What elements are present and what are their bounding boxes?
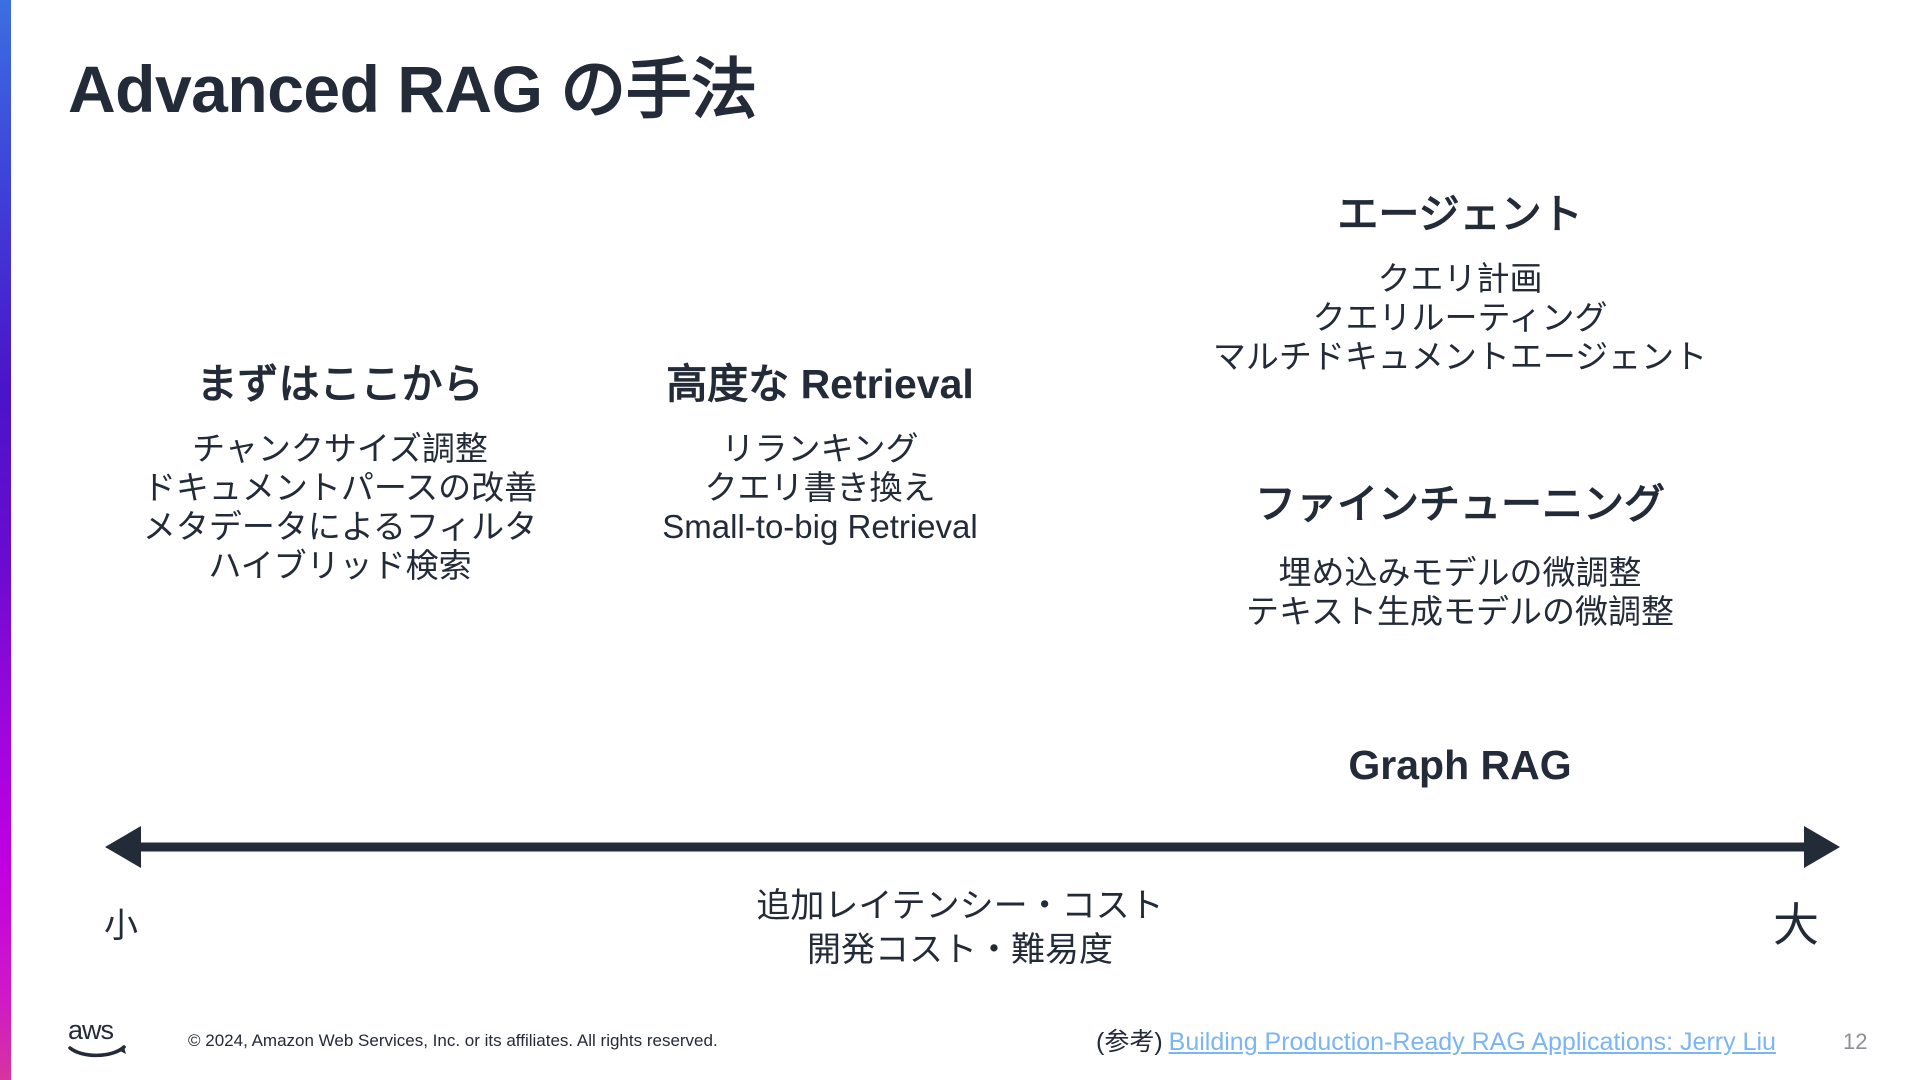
- list-item: 埋め込みモデルの微調整: [1100, 554, 1820, 593]
- aws-logo: aws: [68, 1016, 132, 1060]
- page-number: 12: [1843, 1029, 1867, 1055]
- group-retrieval-items: リランキング クエリ書き換え Small-to-big Retrieval: [520, 430, 1120, 547]
- slide: Advanced RAG の手法 まずはここから チャンクサイズ調整 ドキュメン…: [0, 0, 1920, 1080]
- group-finetune: ファインチューニング 埋め込みモデルの微調整 テキスト生成モデルの微調整: [1100, 480, 1820, 632]
- axis-label-max: 大: [1773, 889, 1819, 955]
- group-agent: エージェント クエリ計画 クエリルーティング マルチドキュメントエージェント: [1100, 190, 1820, 377]
- source-prefix: (参考): [1096, 1028, 1163, 1056]
- list-item: Small-to-big Retrieval: [520, 508, 1120, 547]
- source-note: (参考)Building Production-Ready RAG Applic…: [1096, 1022, 1776, 1058]
- axis-caption-line-2: 開発コスト・難易度: [560, 929, 1360, 973]
- complexity-axis: [105, 818, 1840, 876]
- list-item: クエリ書き換え: [520, 469, 1120, 508]
- group-finetune-heading: ファインチューニング: [1100, 480, 1820, 528]
- list-item: クエリ計画: [1100, 260, 1820, 299]
- copyright-text: © 2024, Amazon Web Services, Inc. or its…: [188, 1031, 718, 1051]
- group-agent-heading: エージェント: [1100, 190, 1820, 238]
- axis-label-min: 小: [104, 898, 138, 947]
- group-retrieval: 高度な Retrieval リランキング クエリ書き換え Small-to-bi…: [520, 360, 1120, 547]
- left-gradient-accent-bar: [0, 0, 11, 1080]
- double-arrow-icon: [105, 818, 1840, 876]
- list-item: ハイブリッド検索: [40, 547, 640, 586]
- list-item: マルチドキュメントエージェント: [1100, 338, 1820, 377]
- group-agent-items: クエリ計画 クエリルーティング マルチドキュメントエージェント: [1100, 260, 1820, 377]
- page-title: Advanced RAG の手法: [68, 36, 757, 132]
- axis-caption: 追加レイテンシー・コスト 開発コスト・難易度: [560, 885, 1360, 972]
- svg-text:aws: aws: [68, 1016, 114, 1045]
- group-retrieval-heading: 高度な Retrieval: [520, 360, 1120, 408]
- list-item: リランキング: [520, 430, 1120, 469]
- list-item: テキスト生成モデルの微調整: [1100, 593, 1820, 632]
- graph-rag-label: Graph RAG: [1100, 742, 1820, 789]
- group-finetune-items: 埋め込みモデルの微調整 テキスト生成モデルの微調整: [1100, 554, 1820, 632]
- source-link[interactable]: Building Production-Ready RAG Applicatio…: [1169, 1028, 1776, 1056]
- list-item: クエリルーティング: [1100, 299, 1820, 338]
- axis-caption-line-1: 追加レイテンシー・コスト: [560, 885, 1360, 929]
